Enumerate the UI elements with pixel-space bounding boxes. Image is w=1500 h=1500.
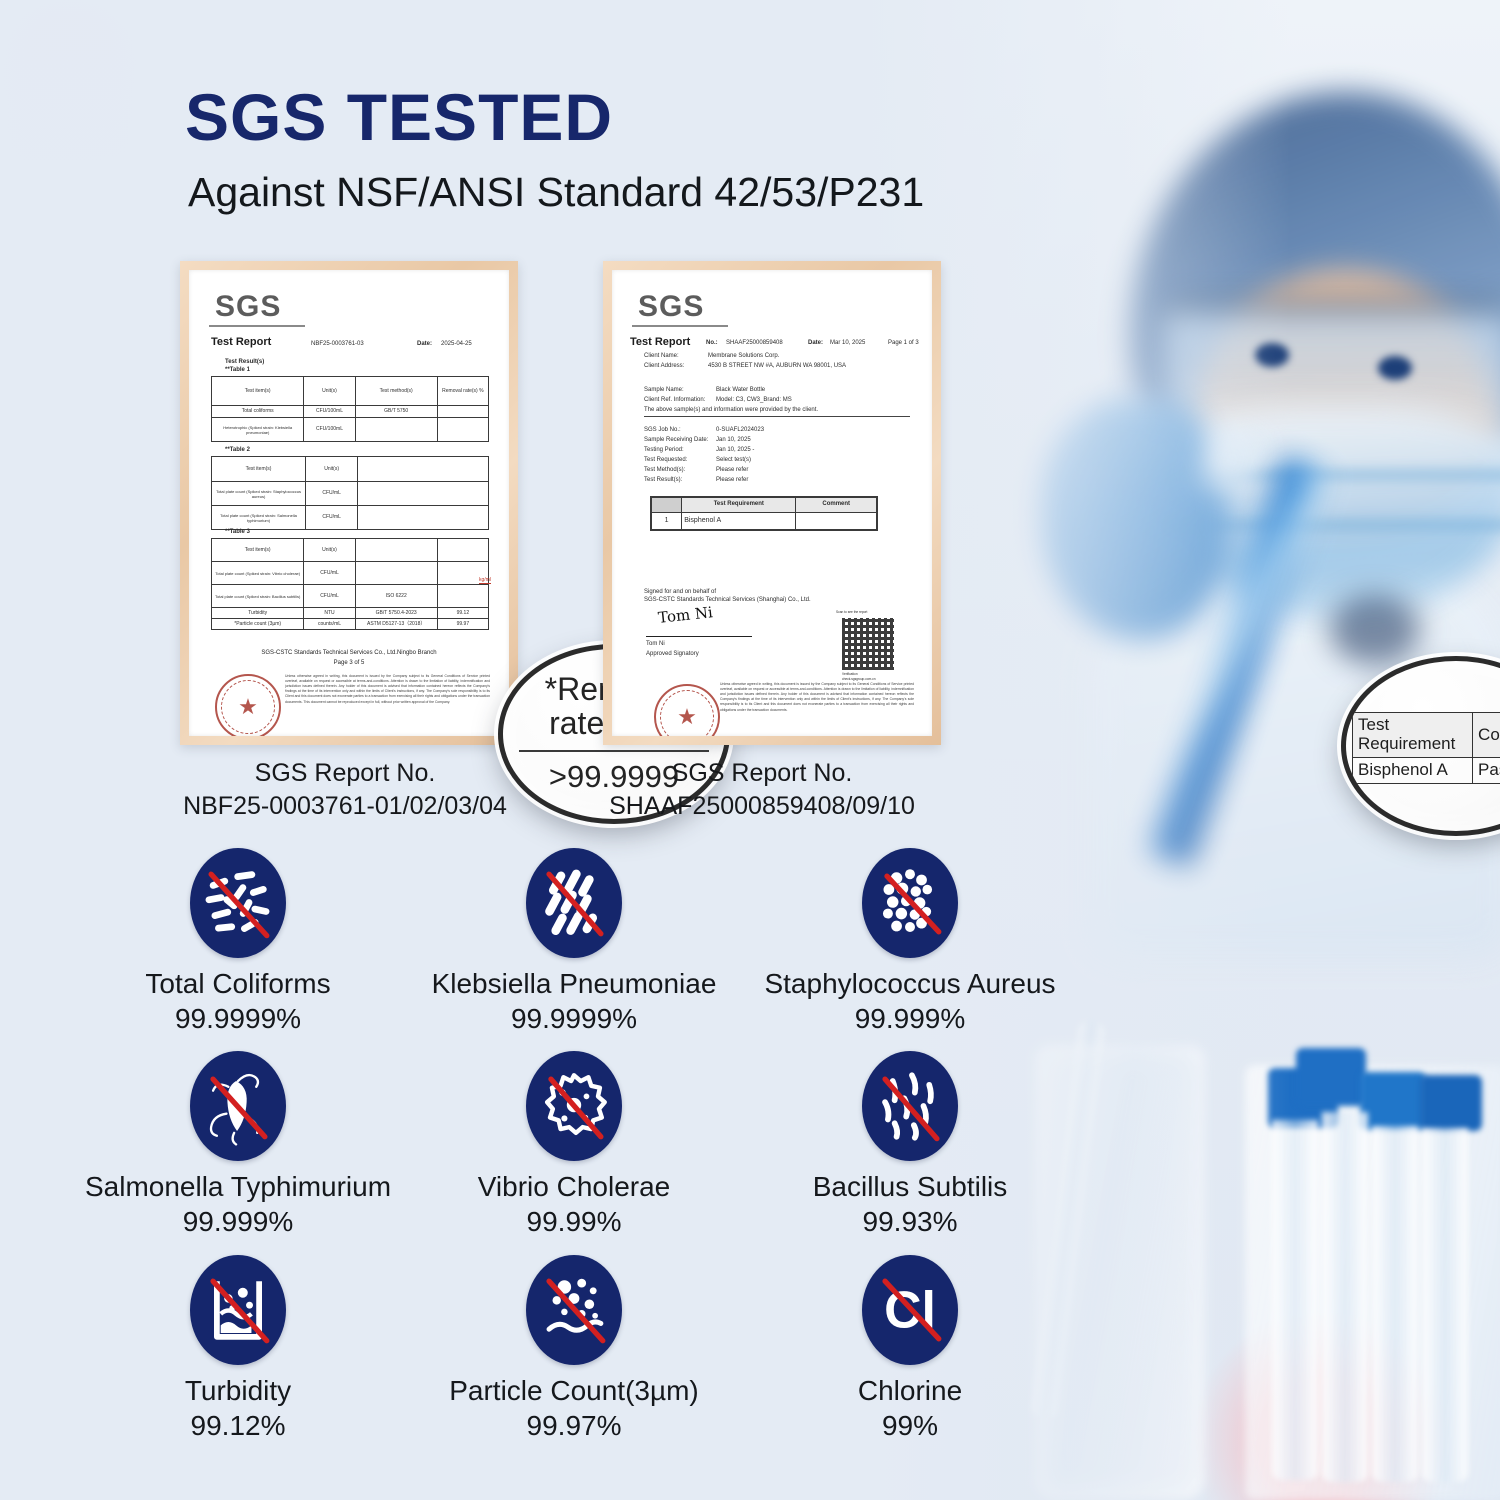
td: CFU/mL bbox=[304, 585, 355, 607]
td: Total coliforms bbox=[212, 406, 304, 417]
contaminant-percent: 99.9999% bbox=[70, 1001, 406, 1037]
field-label: Client Address: bbox=[644, 362, 684, 371]
table-3-caption: **Table 3 bbox=[225, 528, 250, 537]
handwritten-signature: Tom Ni bbox=[657, 603, 713, 627]
field-label: SGS Job No.: bbox=[644, 426, 681, 435]
qr-code bbox=[842, 618, 894, 670]
chlorine-cl-icon: Cl bbox=[862, 1255, 958, 1365]
contaminant-name: Vibrio Cholerae bbox=[406, 1169, 742, 1204]
magnified-header-requirement: Test Requirement bbox=[1353, 713, 1473, 757]
rod-cluster-icon bbox=[526, 848, 622, 958]
contaminant-name: Turbidity bbox=[70, 1373, 406, 1408]
sgs-logo: SGS bbox=[638, 290, 704, 324]
td: Total plate count (Spiked strain: Salmon… bbox=[212, 506, 306, 529]
date-label: Date: bbox=[417, 340, 432, 349]
red-annotation: kg/ml bbox=[479, 577, 491, 584]
field-value: Black Water Bottle bbox=[716, 386, 765, 395]
contaminant-name: Salmonella Typhimurium bbox=[70, 1169, 406, 1204]
contaminant-cell-vibrio-cholerae: Vibrio Cholerae 99.99% bbox=[406, 1051, 742, 1240]
th: Unit(s) bbox=[306, 457, 358, 481]
qr-caption-top: Scan to see the report bbox=[836, 610, 867, 615]
td bbox=[438, 418, 488, 441]
th: Test method(s) bbox=[356, 377, 438, 405]
th: Unit(s) bbox=[304, 539, 355, 561]
field-value: Please refer bbox=[716, 476, 748, 485]
th: Removal rate(s) % bbox=[438, 377, 488, 405]
field-value: Jan 10, 2025 bbox=[716, 436, 751, 445]
field-label: Sample Name: bbox=[644, 386, 684, 395]
table-2-caption: **Table 2 bbox=[225, 446, 250, 455]
field-value: 4530 B STREET NW #A, AUBURN WA 98001, US… bbox=[708, 362, 846, 371]
th: Comment bbox=[796, 498, 876, 512]
td: GB/T 5750 bbox=[356, 406, 438, 417]
legal-text: Unless otherwise agreed in writing, this… bbox=[720, 682, 914, 736]
magnified-cell-requirement: Bisphenol A bbox=[1353, 757, 1473, 783]
requirement-table: Test Requirement Comment 1 Bisphenol A bbox=[650, 496, 878, 531]
td bbox=[438, 585, 488, 607]
td: 99.97 bbox=[438, 619, 488, 629]
field-label: Test Requested: bbox=[644, 456, 687, 465]
field-label: Test Method(s): bbox=[644, 466, 685, 475]
contaminant-cell-staphylococcus-aureus: Staphylococcus Aureus 99.999% bbox=[742, 848, 1078, 1037]
field-label: Sample Receiving Date: bbox=[644, 436, 708, 445]
field-value: Model: C3, CW3_Brand: MS bbox=[716, 396, 792, 405]
magnifier-divider bbox=[519, 750, 709, 752]
td: CFU/100mL bbox=[304, 406, 355, 417]
bacilli-icon bbox=[862, 1051, 958, 1161]
provided-note: The above sample(s) and information were… bbox=[644, 406, 818, 415]
no-label: No.: bbox=[706, 339, 718, 348]
field-value: 0-SUAFL2024023 bbox=[716, 426, 764, 435]
th bbox=[438, 539, 488, 561]
th: Test item(s) bbox=[212, 377, 304, 405]
td: counts/mL bbox=[304, 619, 355, 629]
td: Total plate count (Spiked strain: Vibrio… bbox=[212, 562, 304, 584]
td bbox=[356, 562, 438, 584]
company-seal: ★ bbox=[654, 684, 720, 736]
magnified-cell-comment: Pass bbox=[1473, 757, 1500, 783]
td: *Particle count (3µm) bbox=[212, 619, 304, 629]
td bbox=[356, 418, 438, 441]
field-label: Client Ref. Information: bbox=[644, 396, 705, 405]
magnifier-bisphenol-result: Test Requirement Comment Bisphenol A Pas… bbox=[1341, 656, 1500, 836]
th: Unit(s) bbox=[304, 377, 355, 405]
caption-value: NBF25-0003761-01/02/03/04 bbox=[135, 790, 555, 823]
contaminant-name: Klebsiella Pneumoniae bbox=[406, 966, 742, 1001]
contaminant-name: Particle Count(3µm) bbox=[406, 1373, 742, 1408]
td bbox=[358, 482, 488, 505]
certificate-page-2: SGS Test Report No.: SHAAF25000859408 Da… bbox=[612, 270, 932, 736]
footer-company: SGS-CSTC Standards Technical Services Co… bbox=[189, 650, 509, 656]
th: Test item(s) bbox=[212, 539, 304, 561]
contaminant-cell-chlorine: Cl Chlorine 99% bbox=[742, 1255, 1078, 1444]
page-subtitle: Against NSF/ANSI Standard 42/53/P231 bbox=[188, 172, 924, 213]
contaminant-percent: 99% bbox=[742, 1408, 1078, 1444]
td: NTU bbox=[304, 608, 355, 618]
caption-value: SHAAF25000859408/09/10 bbox=[552, 790, 972, 823]
td: Total plate count (Spiked strain: Staphy… bbox=[212, 482, 306, 505]
grid-row-2: Salmonella Typhimurium 99.999% Vibrio bbox=[70, 1051, 1080, 1254]
td: 1 bbox=[652, 513, 682, 529]
contaminant-name: Bacillus Subtilis bbox=[742, 1169, 1078, 1204]
flagellate-bacteria-icon bbox=[190, 1051, 286, 1161]
grid-row-1: Total Coliforms 99.9999% bbox=[70, 848, 1080, 1051]
contaminant-percent: 99.999% bbox=[70, 1204, 406, 1240]
certificate-1-caption: SGS Report No. NBF25-0003761-01/02/03/04 bbox=[135, 757, 555, 822]
td: Total plate count (Spiked strain: Bacill… bbox=[212, 585, 304, 607]
td bbox=[438, 406, 488, 417]
legal-text: Unless otherwise agreed in writing, this… bbox=[285, 674, 490, 734]
field-value: Select test(s) bbox=[716, 456, 751, 465]
contaminant-cell-bacillus-subtilis: Bacillus Subtilis 99.93% bbox=[742, 1051, 1078, 1240]
contaminant-percent: 99.12% bbox=[70, 1408, 406, 1444]
contaminant-cell-turbidity: Turbidity 99.12% bbox=[70, 1255, 406, 1444]
field-label: Client Name: bbox=[644, 352, 679, 361]
contaminant-percent: 99.99% bbox=[406, 1204, 742, 1240]
date-value: Mar 10, 2025 bbox=[830, 339, 865, 348]
td: Heterotrophic (Spiked strain: Klebsiella… bbox=[212, 418, 304, 441]
th: Test item(s) bbox=[212, 457, 306, 481]
magnified-header-comment: Comment bbox=[1473, 713, 1500, 757]
td: ASTM D5127-13（2018） bbox=[356, 619, 438, 629]
contaminant-percent: 99.97% bbox=[406, 1408, 742, 1444]
beaker-turbidity-icon bbox=[190, 1255, 286, 1365]
caption-label: SGS Report No. bbox=[552, 757, 972, 790]
field-value: Membrane Solutions Corp. bbox=[708, 352, 779, 361]
signatory-name: Tom Ni bbox=[646, 640, 665, 649]
signatory-role: Approved Signatory bbox=[646, 650, 699, 659]
cocci-cluster-icon bbox=[862, 848, 958, 958]
contaminant-cell-klebsiella-pneumoniae: Klebsiella Pneumoniae 99.9999% bbox=[406, 848, 742, 1037]
contaminant-percent: 99.93% bbox=[742, 1204, 1078, 1240]
results-table-3: Test item(s) Unit(s) Total plate count (… bbox=[211, 538, 489, 630]
certificate-page-1: SGS Test Report NBF25-0003761-03 Date: 2… bbox=[189, 270, 509, 736]
contaminant-cell-total-coliforms: Total Coliforms 99.9999% bbox=[70, 848, 406, 1037]
th bbox=[652, 498, 682, 512]
td bbox=[358, 506, 488, 529]
qr-caption-bottom: Verificationcheck.sgsgroup.com.cn bbox=[842, 672, 875, 681]
td: Bisphenol A bbox=[682, 513, 796, 529]
td: GB/T 5750.4-2023 bbox=[356, 608, 438, 618]
amoeba-cell-icon bbox=[526, 1051, 622, 1161]
table-1-caption: **Table 1 bbox=[225, 366, 250, 375]
rod-bacteria-icon bbox=[190, 848, 286, 958]
th bbox=[356, 539, 438, 561]
no-value: SHAAF25000859408 bbox=[726, 339, 783, 348]
td: CFU/100mL bbox=[304, 418, 355, 441]
td: 99.12 bbox=[438, 608, 488, 618]
field-value: Jan 10, 2025 - bbox=[716, 446, 754, 455]
field-value: Please refer bbox=[716, 466, 748, 475]
contaminant-removal-grid: Total Coliforms 99.9999% bbox=[70, 848, 1080, 1458]
contaminant-percent: 99.9999% bbox=[406, 1001, 742, 1037]
contaminant-name: Chlorine bbox=[742, 1373, 1078, 1408]
th bbox=[358, 457, 488, 481]
magnified-table: Test Requirement Comment Bisphenol A Pas… bbox=[1352, 712, 1500, 783]
signature-rule bbox=[646, 636, 752, 637]
th: Test Requirement bbox=[682, 498, 796, 512]
report-title: Test Report bbox=[630, 336, 690, 348]
page-title: SGS TESTED bbox=[185, 84, 613, 150]
results-table-1: Test item(s) Unit(s) Test method(s) Remo… bbox=[211, 376, 489, 442]
field-label: Test Result(s): bbox=[644, 476, 682, 485]
date-value: 2025-04-25 bbox=[441, 340, 472, 349]
footer-page: Page 3 of 5 bbox=[189, 660, 509, 666]
td: ISO 6222 bbox=[356, 585, 438, 607]
td: CFU/mL bbox=[306, 506, 358, 529]
certificate-card-1: SGS Test Report NBF25-0003761-03 Date: 2… bbox=[180, 261, 518, 745]
td: CFU/mL bbox=[306, 482, 358, 505]
contaminant-name: Total Coliforms bbox=[70, 966, 406, 1001]
sgs-logo: SGS bbox=[215, 290, 281, 324]
certificate-card-2: SGS Test Report No.: SHAAF25000859408 Da… bbox=[603, 261, 941, 745]
td: CFU/mL bbox=[304, 562, 355, 584]
caption-label: SGS Report No. bbox=[135, 757, 555, 790]
contaminant-cell-particle-count: Particle Count(3µm) 99.97% bbox=[406, 1255, 742, 1444]
grid-row-3: Turbidity 99.12% Particle Count( bbox=[70, 1255, 1080, 1458]
contaminant-percent: 99.999% bbox=[742, 1001, 1078, 1037]
td: Turbidity bbox=[212, 608, 304, 618]
report-title: Test Report bbox=[211, 336, 271, 348]
certificate-2-caption: SGS Report No. SHAAF25000859408/09/10 bbox=[552, 757, 972, 822]
field-label: Testing Period: bbox=[644, 446, 684, 455]
contaminant-name: Staphylococcus Aureus bbox=[742, 966, 1078, 1001]
company-seal: ★ bbox=[215, 674, 281, 736]
report-number: NBF25-0003761-03 bbox=[311, 340, 364, 349]
contaminant-cell-salmonella-typhimurium: Salmonella Typhimurium 99.999% bbox=[70, 1051, 406, 1240]
signature-company: SGS-CSTC Standards Technical Services (S… bbox=[644, 596, 811, 605]
td bbox=[796, 513, 876, 529]
date-label: Date: bbox=[808, 339, 823, 348]
results-table-2: Test item(s) Unit(s) Total plate count (… bbox=[211, 456, 489, 530]
particles-water-icon bbox=[526, 1255, 622, 1365]
page-label: Page 1 of 3 bbox=[888, 339, 919, 348]
divider bbox=[644, 416, 910, 417]
